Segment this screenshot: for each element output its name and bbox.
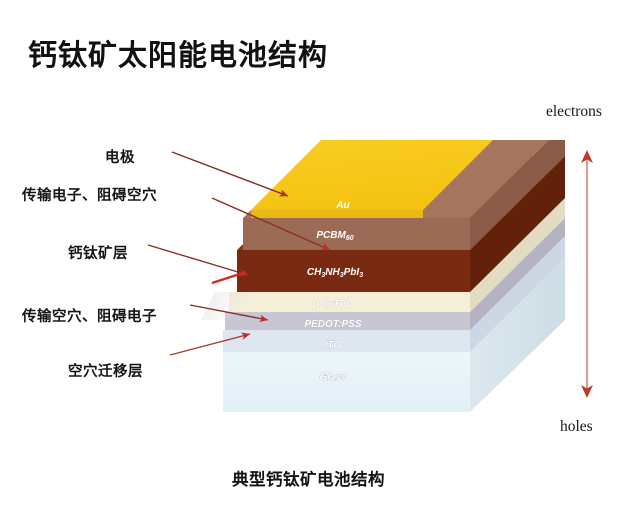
page-title: 钙钛矿太阳能电池结构 — [28, 32, 328, 74]
layer-label-perovskite: CH3NH3PbI3 — [307, 267, 363, 279]
label-perovskite-layer: 钙钛矿层 — [68, 242, 128, 263]
axis-arrowhead-down — [581, 385, 593, 398]
layer-label-au: Au — [335, 200, 349, 211]
axis-arrowhead-up — [581, 150, 593, 163]
label-electron-transport: 传输电子、阻碍空穴 — [22, 184, 157, 205]
layer-label-polytpd: polyTPD — [312, 299, 354, 310]
diagram-canvas: 钙钛矿太阳能电池结构 — [0, 0, 635, 513]
layer-label-glass: Glass — [319, 372, 347, 383]
figure-caption: 典型钙钛矿电池结构 — [232, 466, 385, 490]
label-holes: holes — [560, 418, 593, 436]
layer-label-pedot-pss: PEDOT:PSS — [304, 319, 361, 330]
label-electrons: electrons — [546, 103, 602, 121]
label-electrode: 电极 — [105, 146, 135, 167]
label-hole-transport-block: 传输空穴、阻碍电子 — [22, 305, 157, 326]
layer-label-ito: ITO — [325, 340, 342, 351]
label-hole-migration-layer: 空穴迁移层 — [68, 360, 143, 381]
solar-cell-stack-diagram: Au PCBM60 CH3NH3PbI3 polyTPD PEDOT:PSS I… — [185, 140, 565, 425]
